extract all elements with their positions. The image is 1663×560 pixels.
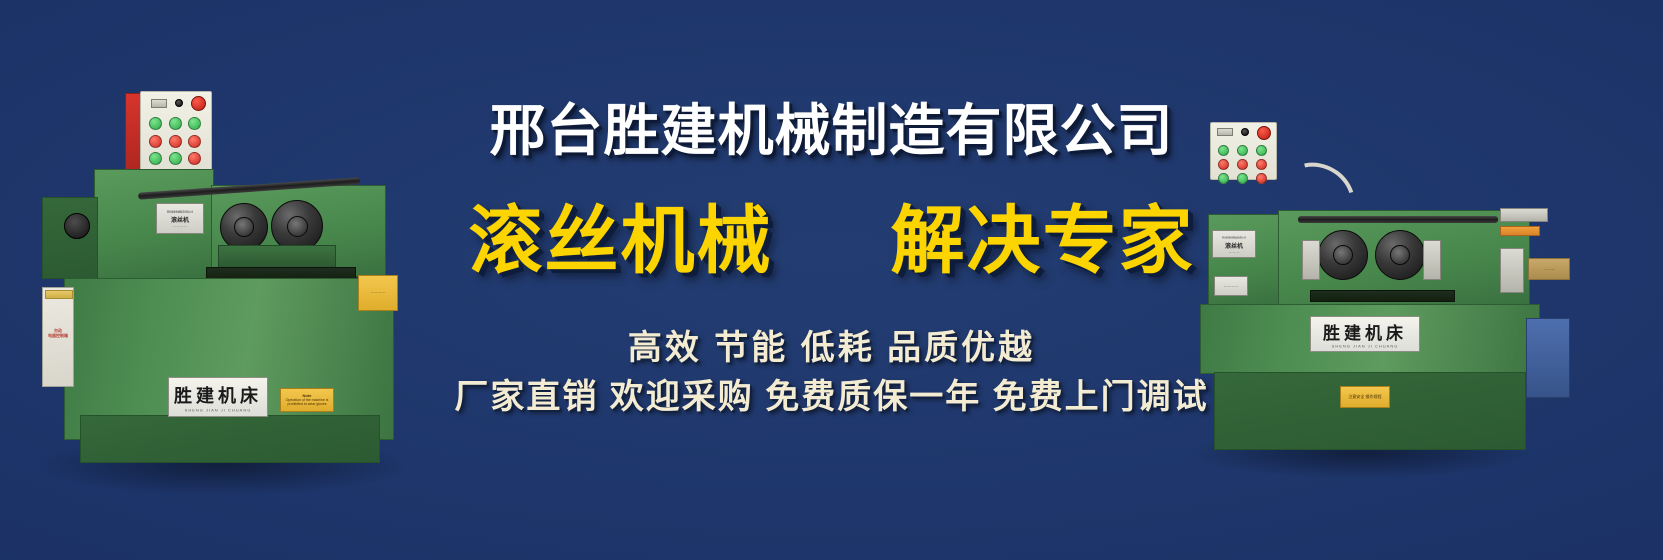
machine-left-body-lower <box>80 415 380 463</box>
promo-banner: 邢台胜建机械制造有限公司 滚丝机 — — — — 勿动 电器控制箱 胜建机床 S… <box>0 0 1663 560</box>
machine-right-chip-tray <box>1310 290 1455 302</box>
cabinet-lid <box>45 290 73 299</box>
headline-row: 滚丝机械 解决专家 <box>0 198 1663 284</box>
panel-button[interactable] <box>1218 173 1229 184</box>
headline-product: 滚丝机械 <box>469 198 773 284</box>
company-title: 邢台胜建机械制造有限公司 <box>0 98 1663 164</box>
panel-button[interactable] <box>1256 173 1267 184</box>
subtitle-services: 厂家直销 欢迎采购 免费质保一年 免费上门调试 <box>0 376 1663 418</box>
table-plate-rows: — — — — <box>1224 284 1239 288</box>
headline-solution: 解决专家 <box>891 198 1195 284</box>
side-label-lines: — — — — <box>371 291 386 294</box>
subtitle-features: 高效 节能 低耗 品质优越 <box>0 327 1663 369</box>
panel-button[interactable] <box>1237 173 1248 184</box>
